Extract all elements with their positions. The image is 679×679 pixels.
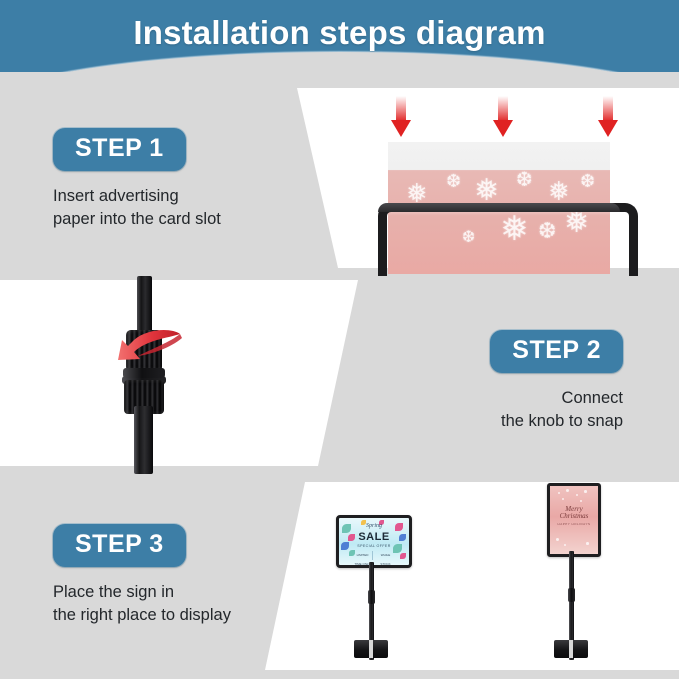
step-2-text-block: STEP 2 Connect the knob to snap	[490, 330, 623, 433]
insert-arrow-icon	[391, 96, 411, 140]
snowflake-icon: ❅	[548, 178, 570, 204]
merry-christmas-sign: Merry Christmas HAPPY HOLIDAYS	[547, 483, 601, 557]
insert-arrow-icon	[598, 96, 618, 140]
rotate-arrow-icon	[108, 326, 188, 382]
step-3-illustration: Spring SALE SPECIAL OFFER LIMITED TIME O…	[290, 474, 679, 679]
snowflake-icon: ❆	[446, 172, 461, 190]
sign-subtitle: HAPPY HOLIDAYS	[550, 522, 598, 526]
step-1-text-block: STEP 1 Insert advertising paper into the…	[53, 128, 221, 231]
snowflake-icon: ❆	[580, 172, 595, 190]
step-3-text-block: STEP 3 Place the sign in the right place…	[53, 524, 231, 627]
lower-pole	[134, 406, 153, 474]
sign-tag: LIMITED TIME ONLY	[353, 551, 373, 560]
sign-subtitle: SPECIAL OFFER	[339, 544, 409, 548]
insert-arrow-icon	[493, 96, 513, 140]
stand-knob	[368, 590, 375, 604]
page-header: Installation steps diagram	[0, 0, 679, 72]
sign-script-title: Merry Christmas	[550, 506, 598, 521]
step-2-description: Connect the knob to snap	[490, 387, 623, 434]
snowflake-icon: ❆	[516, 170, 533, 190]
step-3-badge: STEP 3	[53, 524, 186, 567]
sign-script-title: Spring	[339, 523, 409, 529]
stand-knob	[568, 588, 575, 602]
step-2-badge: STEP 2	[490, 330, 623, 373]
sign-frame	[378, 203, 638, 276]
installation-diagram-page: Installation steps diagram ❅ ❆ ❅ ❆ ❅ ❆ ❅…	[0, 0, 679, 679]
step-1-badge: STEP 1	[53, 128, 186, 171]
sign-tag-row: LIMITED TIME ONLY WHILE STOCK LASTS	[353, 551, 395, 560]
step-1-description: Insert advertising paper into the card s…	[53, 185, 221, 232]
snowflake-icon: ❅	[474, 176, 499, 206]
step-2-illustration	[0, 276, 358, 474]
step-1-illustration: ❅ ❆ ❅ ❆ ❅ ❆ ❅ ❆ ❅ ❆	[290, 72, 679, 276]
sign-headline: SALE	[339, 531, 409, 543]
step-3-description: Place the sign in the right place to dis…	[53, 581, 231, 628]
spring-sale-sign: Spring SALE SPECIAL OFFER LIMITED TIME O…	[336, 515, 412, 568]
stand-base	[554, 640, 588, 658]
stand-base	[354, 640, 388, 658]
sign-tag: WHILE STOCK LASTS	[376, 551, 395, 560]
